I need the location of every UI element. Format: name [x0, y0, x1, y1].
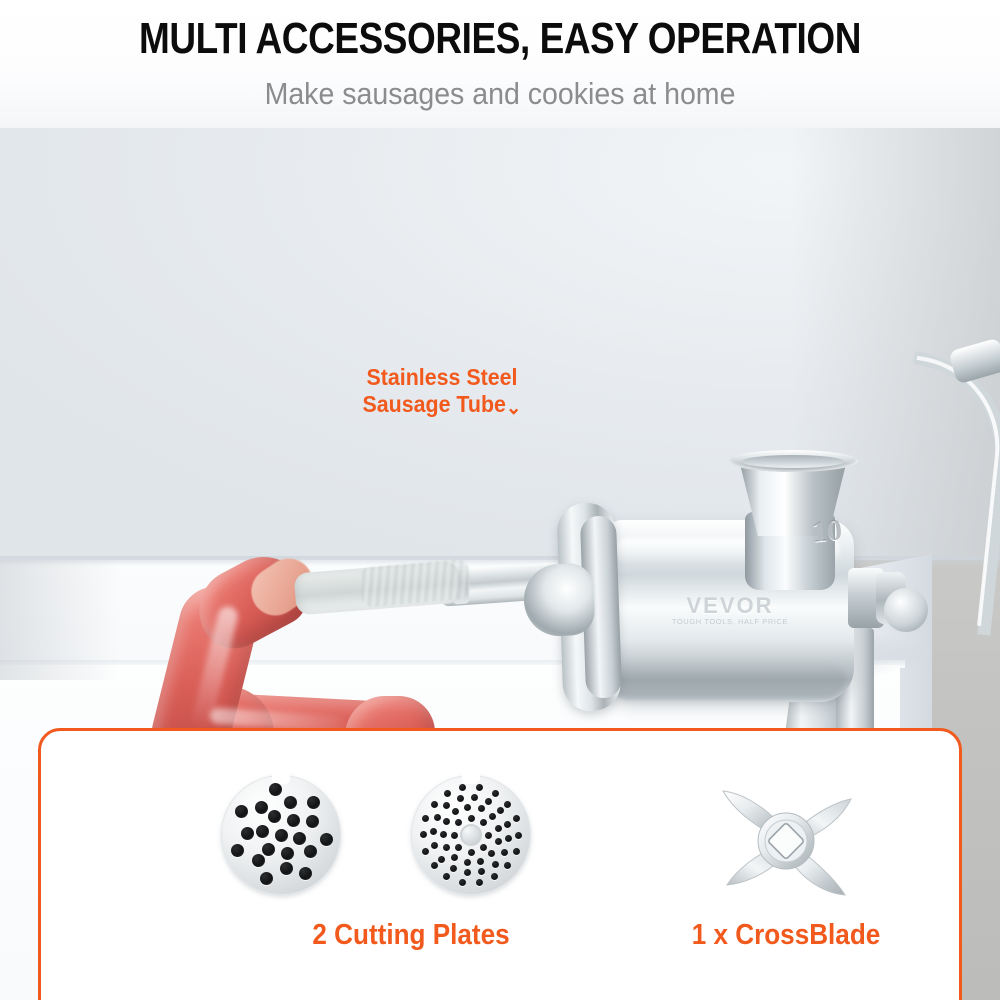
plate-hole: [455, 819, 462, 826]
plate-hole: [443, 873, 450, 880]
plate-hole: [451, 854, 458, 861]
plate-hole: [485, 832, 492, 839]
plate-hole: [489, 813, 496, 820]
plate-hole: [513, 848, 520, 855]
plate-notch: [462, 773, 480, 784]
plate-hole: [443, 818, 450, 825]
product-marketing-image: VEVOR TOUGH TOOLS, HALF PRICE 10 Stainle…: [0, 0, 1000, 1000]
plate-hole: [464, 804, 471, 811]
plate-center-hole: [460, 824, 482, 846]
plate-hole: [495, 825, 502, 832]
plate-hole: [505, 835, 512, 842]
plate-hole: [241, 827, 254, 840]
plate-hole: [451, 832, 458, 839]
plate-hole: [320, 833, 333, 846]
callout-line-2-wrap: Sausage Tube⌄: [340, 391, 545, 419]
cutting-plates-label: 2 Cutting Plates: [231, 919, 591, 952]
plate-hole: [269, 783, 282, 796]
chevron-down-icon: ⌄: [506, 397, 522, 421]
plate-hole: [287, 814, 300, 827]
plate-hole: [260, 872, 273, 885]
plate-hole: [262, 843, 275, 856]
cross-blade-label-wrap: 1 x CrossBlade: [641, 919, 931, 952]
accessories-card: 2 Cutting Plates: [38, 728, 962, 1000]
plate-hole: [459, 784, 466, 791]
plate-hole: [235, 805, 248, 818]
plate-hole: [438, 856, 445, 863]
plate-hole: [434, 814, 441, 821]
cross-blade-icon: [711, 769, 861, 909]
cutting-plate-fine-icon: [411, 775, 531, 895]
plate-hole: [252, 854, 265, 867]
cutting-plates-label-wrap: 2 Cutting Plates: [211, 919, 611, 952]
plate-hole: [491, 873, 498, 880]
cutting-plates-group: 2 Cutting Plates: [211, 769, 611, 919]
plate-hole: [459, 879, 466, 886]
plate-hole: [284, 796, 297, 809]
page-subtitle: Make sausages and cookies at home: [40, 76, 960, 112]
sausage-tube-callout: Stainless Steel Sausage Tube⌄: [340, 364, 545, 419]
plate-hole: [492, 861, 499, 868]
plate-hole: [495, 838, 502, 845]
plate-hole: [471, 794, 478, 801]
header-band: MULTI ACCESSORIES, EASY OPERATION Make s…: [0, 0, 1000, 128]
plate-hole: [304, 845, 317, 858]
plate-hole: [231, 844, 244, 857]
plate-hole: [485, 798, 492, 805]
plate-hole: [306, 815, 319, 828]
plate-hole: [504, 862, 511, 869]
cross-blade-group: 1 x CrossBlade: [641, 769, 931, 919]
cutting-plate-coarse-icon: [221, 775, 341, 895]
plate-hole: [280, 862, 293, 875]
plate-hole: [513, 815, 520, 822]
plate-hole: [504, 821, 511, 828]
grinder-body-shading: [610, 660, 846, 700]
plate-hole: [452, 808, 459, 815]
plate-hole: [268, 810, 281, 823]
plate-hole: [488, 850, 495, 857]
plate-hole: [480, 844, 487, 851]
plate-hole: [255, 801, 268, 814]
grinder-size-marking: 10: [810, 512, 853, 550]
plate-hole: [478, 805, 485, 812]
plate-hole: [299, 867, 312, 880]
cross-blade-label: 1 x CrossBlade: [656, 919, 917, 952]
plate-hole: [443, 844, 450, 851]
plate-hole: [422, 848, 429, 855]
plate-hole: [275, 829, 288, 842]
plate-hole: [256, 825, 269, 838]
plate-hole: [430, 828, 437, 835]
plate-hole: [476, 784, 483, 791]
plate-hole: [444, 790, 451, 797]
plate-hole: [504, 801, 511, 808]
plate-hole: [476, 879, 483, 886]
plate-hole: [293, 832, 306, 845]
plate-hole: [431, 842, 438, 849]
plate-hole: [443, 802, 450, 809]
grinder-hopper-opening: [742, 455, 844, 468]
plate-hole: [477, 858, 484, 865]
plate-hole: [501, 849, 508, 856]
vevor-brand-text: VEVOR: [660, 593, 800, 619]
plate-hole: [281, 847, 294, 860]
plate-hole: [468, 849, 475, 856]
plate-hole: [492, 790, 499, 797]
plate-hole: [307, 796, 320, 809]
plate-hole: [431, 801, 438, 808]
plate-hole: [464, 869, 471, 876]
plate-hole: [420, 831, 427, 838]
plate-hole: [457, 795, 464, 802]
plate-hole: [431, 862, 438, 869]
plate-hole: [455, 844, 462, 851]
callout-line-1: Stainless Steel: [340, 364, 545, 391]
plate-hole: [478, 868, 485, 875]
callout-line-2: Sausage Tube: [362, 391, 505, 417]
plate-hole: [464, 859, 471, 866]
table-left-shadow: [0, 560, 120, 680]
accessories-row: 2 Cutting Plates: [41, 731, 959, 1000]
vevor-tagline-text: TOUGH TOOLS, HALF PRICE: [660, 617, 800, 626]
plate-hole: [497, 807, 504, 814]
plate-hole: [515, 832, 522, 839]
plate-hole: [468, 815, 475, 822]
plate-hole: [450, 865, 457, 872]
page-title: MULTI ACCESSORIES, EASY OPERATION: [80, 16, 920, 62]
plate-hole: [440, 831, 447, 838]
plate-hole: [422, 815, 429, 822]
plate-hole: [480, 819, 487, 826]
